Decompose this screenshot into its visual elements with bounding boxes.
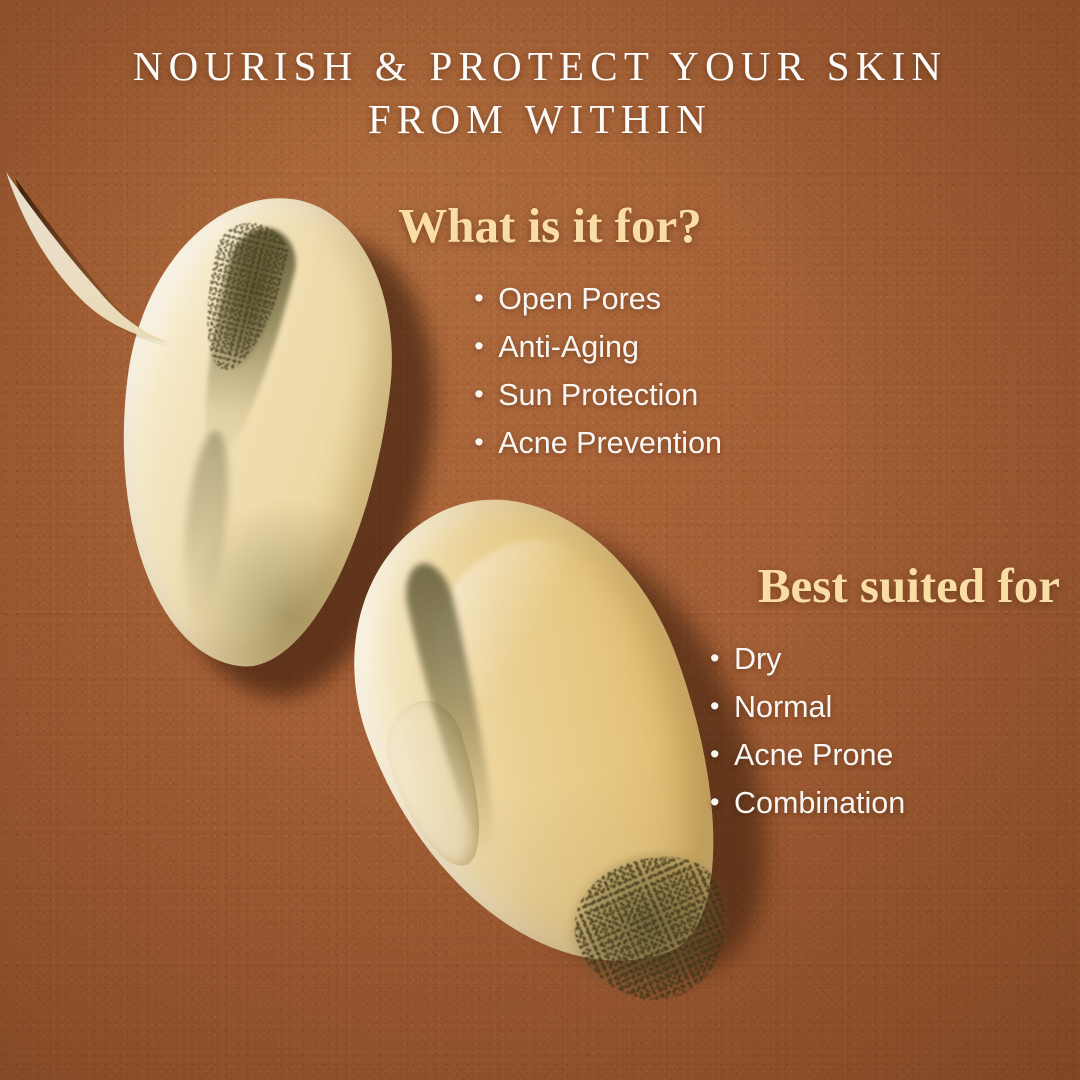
list-item: Dry — [708, 635, 1060, 683]
list-item: Acne Prone — [708, 731, 1060, 779]
section-what-is-it-for: What is it for? Open Pores Anti-Aging Su… — [350, 200, 750, 467]
background-vignette — [0, 0, 1080, 1080]
list-item: Open Pores — [472, 275, 722, 323]
section-title-best-suited-for: Best suited for — [620, 560, 1060, 613]
list-item: Sun Protection — [472, 371, 722, 419]
headline: NOURISH & PROTECT YOUR SKIN FROM WITHIN — [0, 40, 1080, 147]
benefits-list: Open Pores Anti-Aging Sun Protection Acn… — [472, 275, 722, 467]
list-item: Normal — [708, 683, 1060, 731]
list-item: Combination — [708, 779, 1060, 827]
section-title-what-is-it-for: What is it for? — [350, 200, 750, 253]
skin-types-list: Dry Normal Acne Prone Combination — [708, 635, 1060, 827]
promo-poster: NOURISH & PROTECT YOUR SKIN FROM WITHIN … — [0, 0, 1080, 1080]
list-item: Anti-Aging — [472, 323, 722, 371]
section-best-suited-for: Best suited for Dry Normal Acne Prone Co… — [620, 560, 1060, 827]
list-item: Acne Prevention — [472, 419, 722, 467]
headline-line-2: FROM WITHIN — [46, 93, 1034, 146]
headline-line-1: NOURISH & PROTECT YOUR SKIN — [46, 40, 1034, 93]
